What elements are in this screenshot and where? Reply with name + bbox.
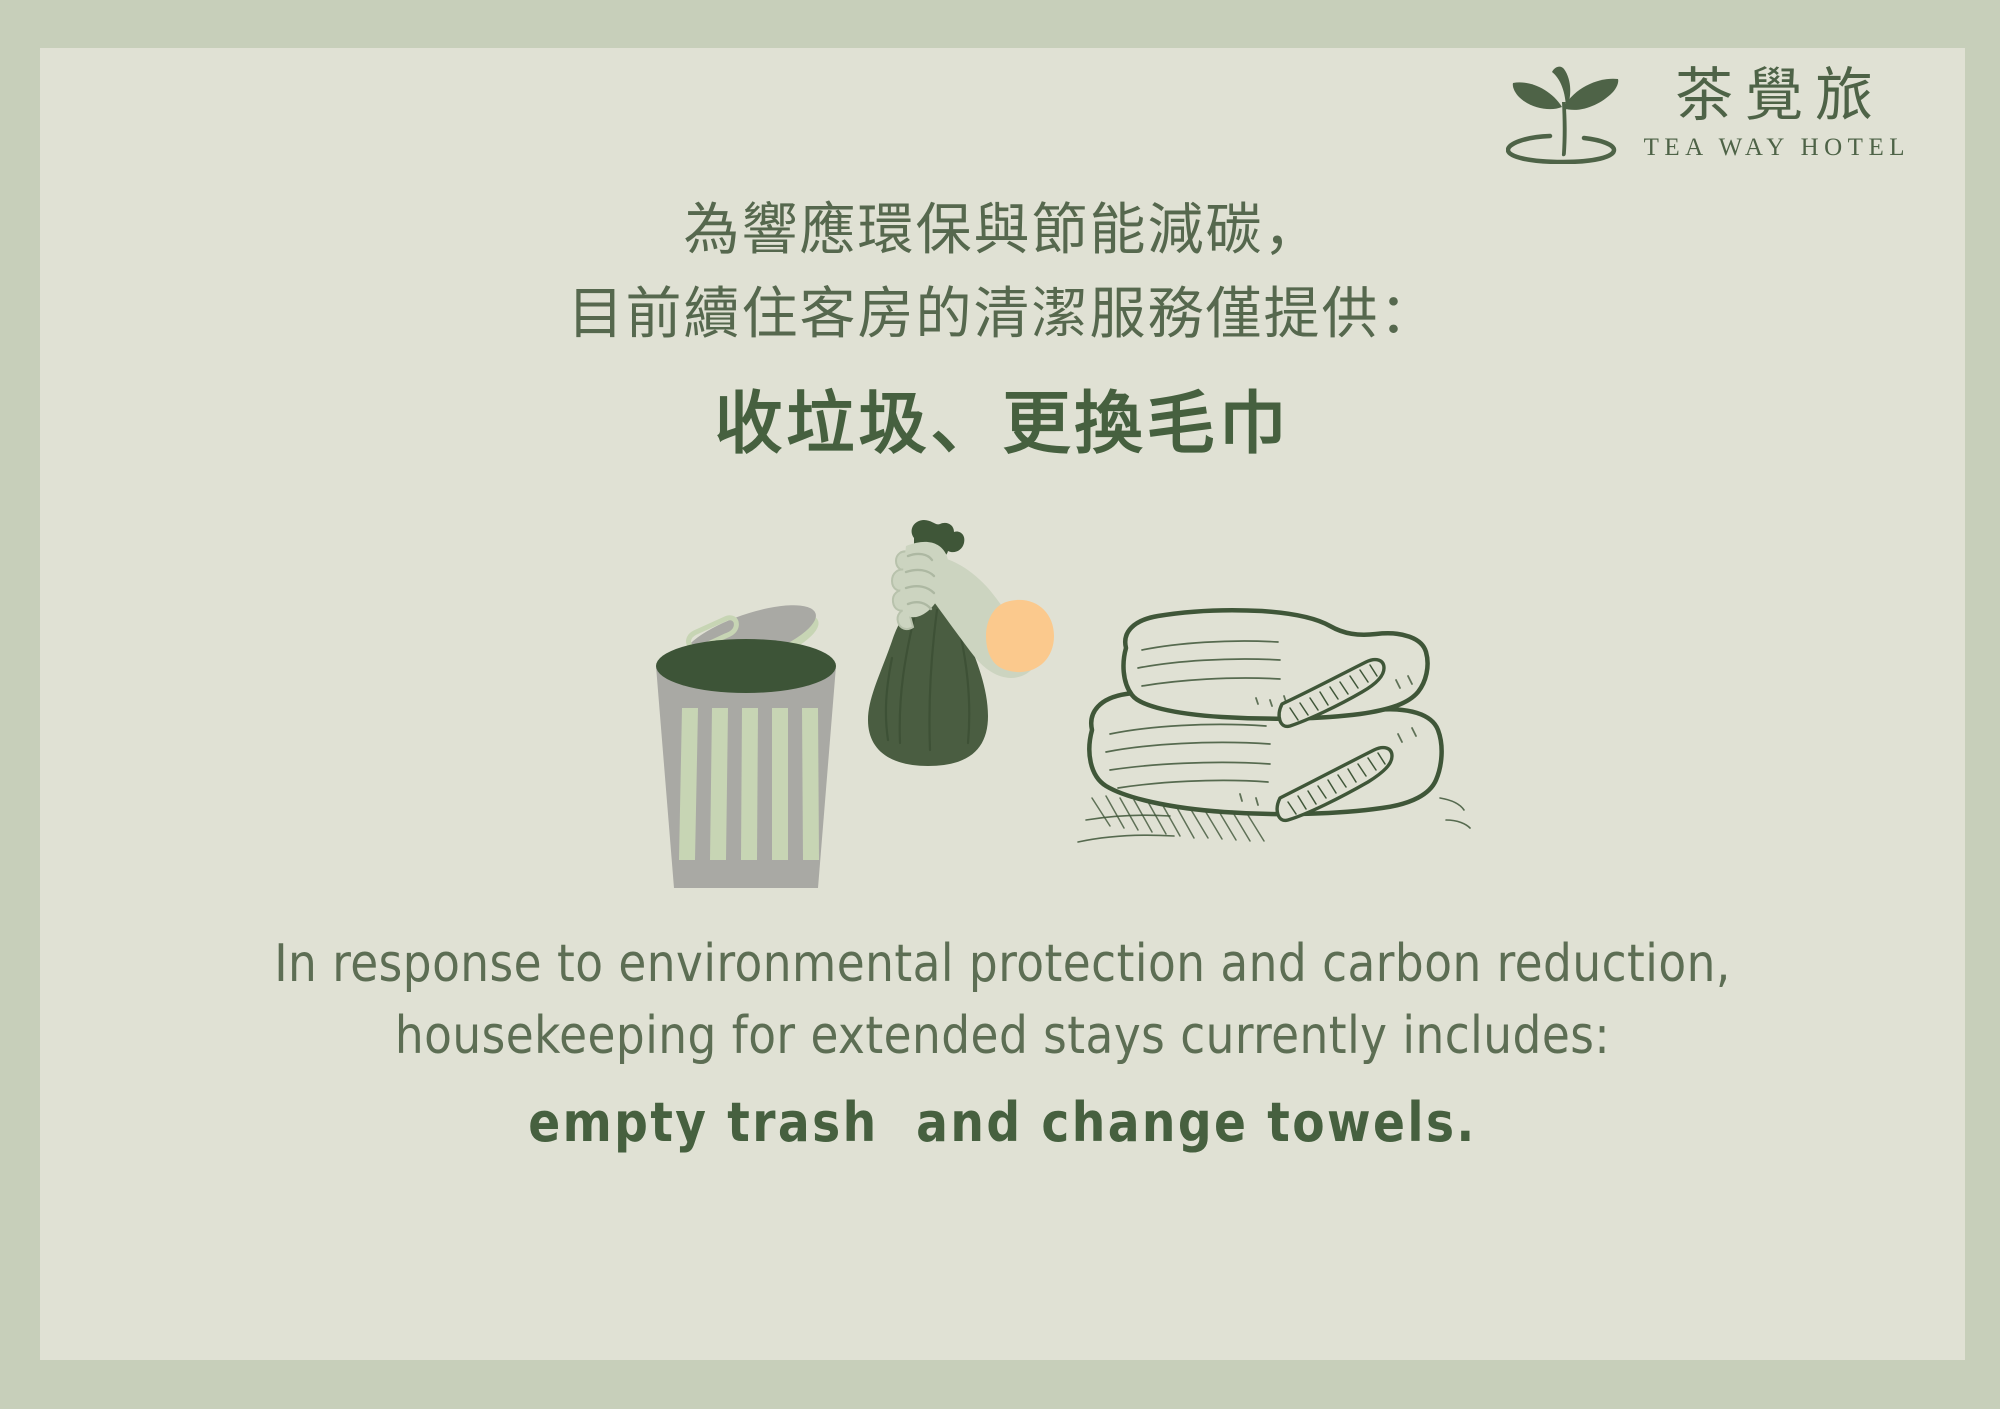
chinese-line-1: 為響應環保與節能減碳， xyxy=(40,188,1965,272)
chinese-emphasis-line: 收垃圾、更換毛巾 xyxy=(40,376,1965,472)
poster-panel: 茶覺旅 TEA WAY HOTEL 為響應環保與節能減碳， 目前續住客房的清潔服… xyxy=(40,48,1965,1360)
chinese-text-block: 為響應環保與節能減碳， 目前續住客房的清潔服務僅提供： 收垃圾、更換毛巾 xyxy=(40,188,1965,472)
chinese-line-2: 目前續住客房的清潔服務僅提供： xyxy=(40,272,1965,356)
logo-wordmark: 茶覺旅 TEA WAY HOTEL xyxy=(1638,62,1910,162)
illustration-row xyxy=(640,498,1490,898)
trash-can-icon xyxy=(656,591,836,888)
english-line-2: housekeeping for extended stays currentl… xyxy=(69,1000,1936,1072)
tea-sprout-icon xyxy=(1506,60,1624,164)
folded-towels-icon xyxy=(1078,610,1470,842)
poster-frame: 茶覺旅 TEA WAY HOTEL 為響應環保與節能減碳， 目前續住客房的清潔服… xyxy=(0,0,2000,1409)
hand-holding-trash-bag-icon xyxy=(868,520,1054,766)
hotel-logo: 茶覺旅 TEA WAY HOTEL xyxy=(1506,60,1910,164)
english-line-1: In response to environmental protection … xyxy=(69,928,1936,1000)
logo-chinese-name: 茶覺旅 xyxy=(1663,66,1885,127)
logo-english-name: TEA WAY HOTEL xyxy=(1638,134,1910,162)
english-text-block: In response to environmental protection … xyxy=(40,928,1965,1162)
english-emphasis-line: empty trash and change towels. xyxy=(69,1084,1936,1162)
illustration-svg xyxy=(640,498,1490,898)
